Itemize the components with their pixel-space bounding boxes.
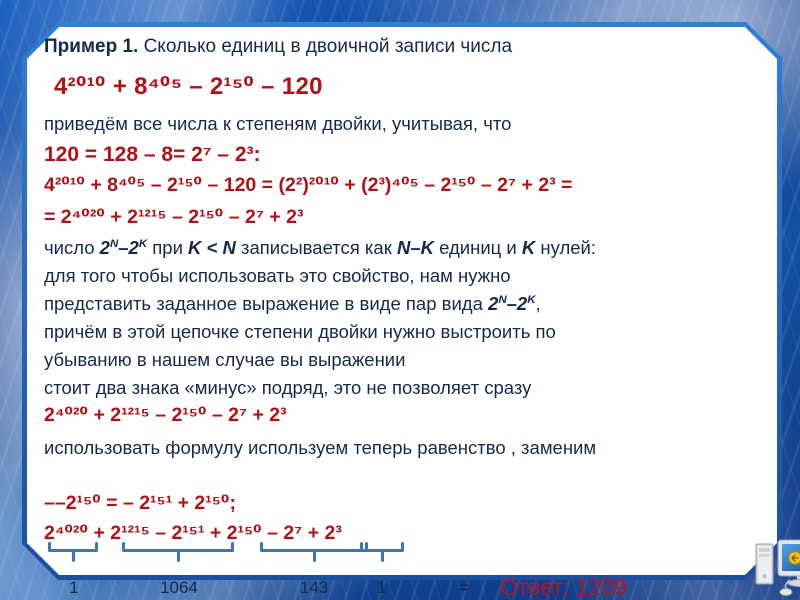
expression-powers-of-two: = 2⁴⁰²⁰ + 2¹²¹⁵ – 2¹⁵⁰ – 2⁷ + 2³ xyxy=(44,206,303,229)
expression-substitution: 4²⁰¹⁰ + 8⁴⁰⁵ – 2¹⁵⁰ – 120 = (2²)²⁰¹⁰ + (… xyxy=(44,174,572,197)
brace-3 xyxy=(260,546,368,560)
equals-sign: = xyxy=(459,578,469,598)
expression-120-decomposition: 120 = 128 – 8= 2⁷ – 2³: xyxy=(44,142,261,167)
pairs-text: представить заданное выражение в виде па… xyxy=(44,293,488,314)
brace-2 xyxy=(122,546,234,560)
slide: Пример 1. Сколько единиц в двоичной запи… xyxy=(0,0,800,600)
desktop-computer-icon xyxy=(750,530,800,600)
paragraph-use-property: для того чтобы использовать это свойство… xyxy=(44,264,511,287)
rule-k: K xyxy=(522,237,535,258)
paragraph-in-our-case: убыванию в нашем случае вы выражении xyxy=(44,348,405,371)
title-text: Сколько единиц в двоичной записи числа xyxy=(138,36,512,57)
rule-condition: K < N xyxy=(188,237,236,258)
count-3: 143 xyxy=(272,578,356,598)
pairs-comma: , xyxy=(536,293,541,314)
paragraph-reduce-to-powers: приведём все числа к степеням двойки, уч… xyxy=(44,112,511,135)
expression-final: 2⁴⁰²⁰ + 2¹²¹⁵ – 2¹⁵¹ + 2¹⁵⁰ – 2⁷ + 2³ xyxy=(44,522,342,545)
expression-chain: 2⁴⁰²⁰ + 2¹²¹⁵ – 2¹⁵⁰ – 2⁷ + 2³ xyxy=(44,404,287,427)
page-title: Пример 1. Сколько единиц в двоичной запи… xyxy=(44,36,512,58)
count-1: 1 xyxy=(52,578,96,598)
rule-text-3: записывается как xyxy=(236,237,397,258)
rule-text-5: нулей: xyxy=(535,237,596,258)
title-prefix: Пример 1. xyxy=(44,36,138,57)
count-2: 1064 xyxy=(134,578,224,598)
underbrace-group xyxy=(44,546,704,562)
paragraph-descending-order: причём в этой цепочке степени двойки нуж… xyxy=(44,320,556,343)
brace-1 xyxy=(48,546,98,560)
rule-n-minus-k: N–K xyxy=(397,237,434,258)
rule-text-1: число xyxy=(44,237,100,258)
expression-original: 4²⁰¹⁰ + 8⁴⁰⁵ – 2¹⁵⁰ – 120 xyxy=(54,72,323,101)
paragraph-two-minuses: стоит два знака «минус» подряд, это не п… xyxy=(44,376,531,399)
paragraph-represent-pairs: представить заданное выражение в виде па… xyxy=(44,292,541,315)
rule-text-4: единиц и xyxy=(434,237,522,258)
slide-content: Пример 1. Сколько единиц в двоичной запи… xyxy=(44,30,760,570)
group-counts: 1 1064 143 1 xyxy=(44,578,744,600)
paragraph-property-rule: число 2N–2K при K < N записывается как N… xyxy=(44,236,596,259)
count-4: 1 xyxy=(362,578,402,598)
rule-math-2n: 2N–2K xyxy=(100,237,147,258)
rule-text-2: при xyxy=(147,237,188,258)
pairs-math: 2N–2K xyxy=(488,293,535,314)
answer-label: Ответ: 1209 xyxy=(500,574,627,600)
brace-4 xyxy=(360,546,404,560)
expression-identity: ––2¹⁵⁰ = – 2¹⁵¹ + 2¹⁵⁰; xyxy=(44,492,236,515)
paragraph-use-identity: использовать формулу используем теперь р… xyxy=(44,436,596,459)
